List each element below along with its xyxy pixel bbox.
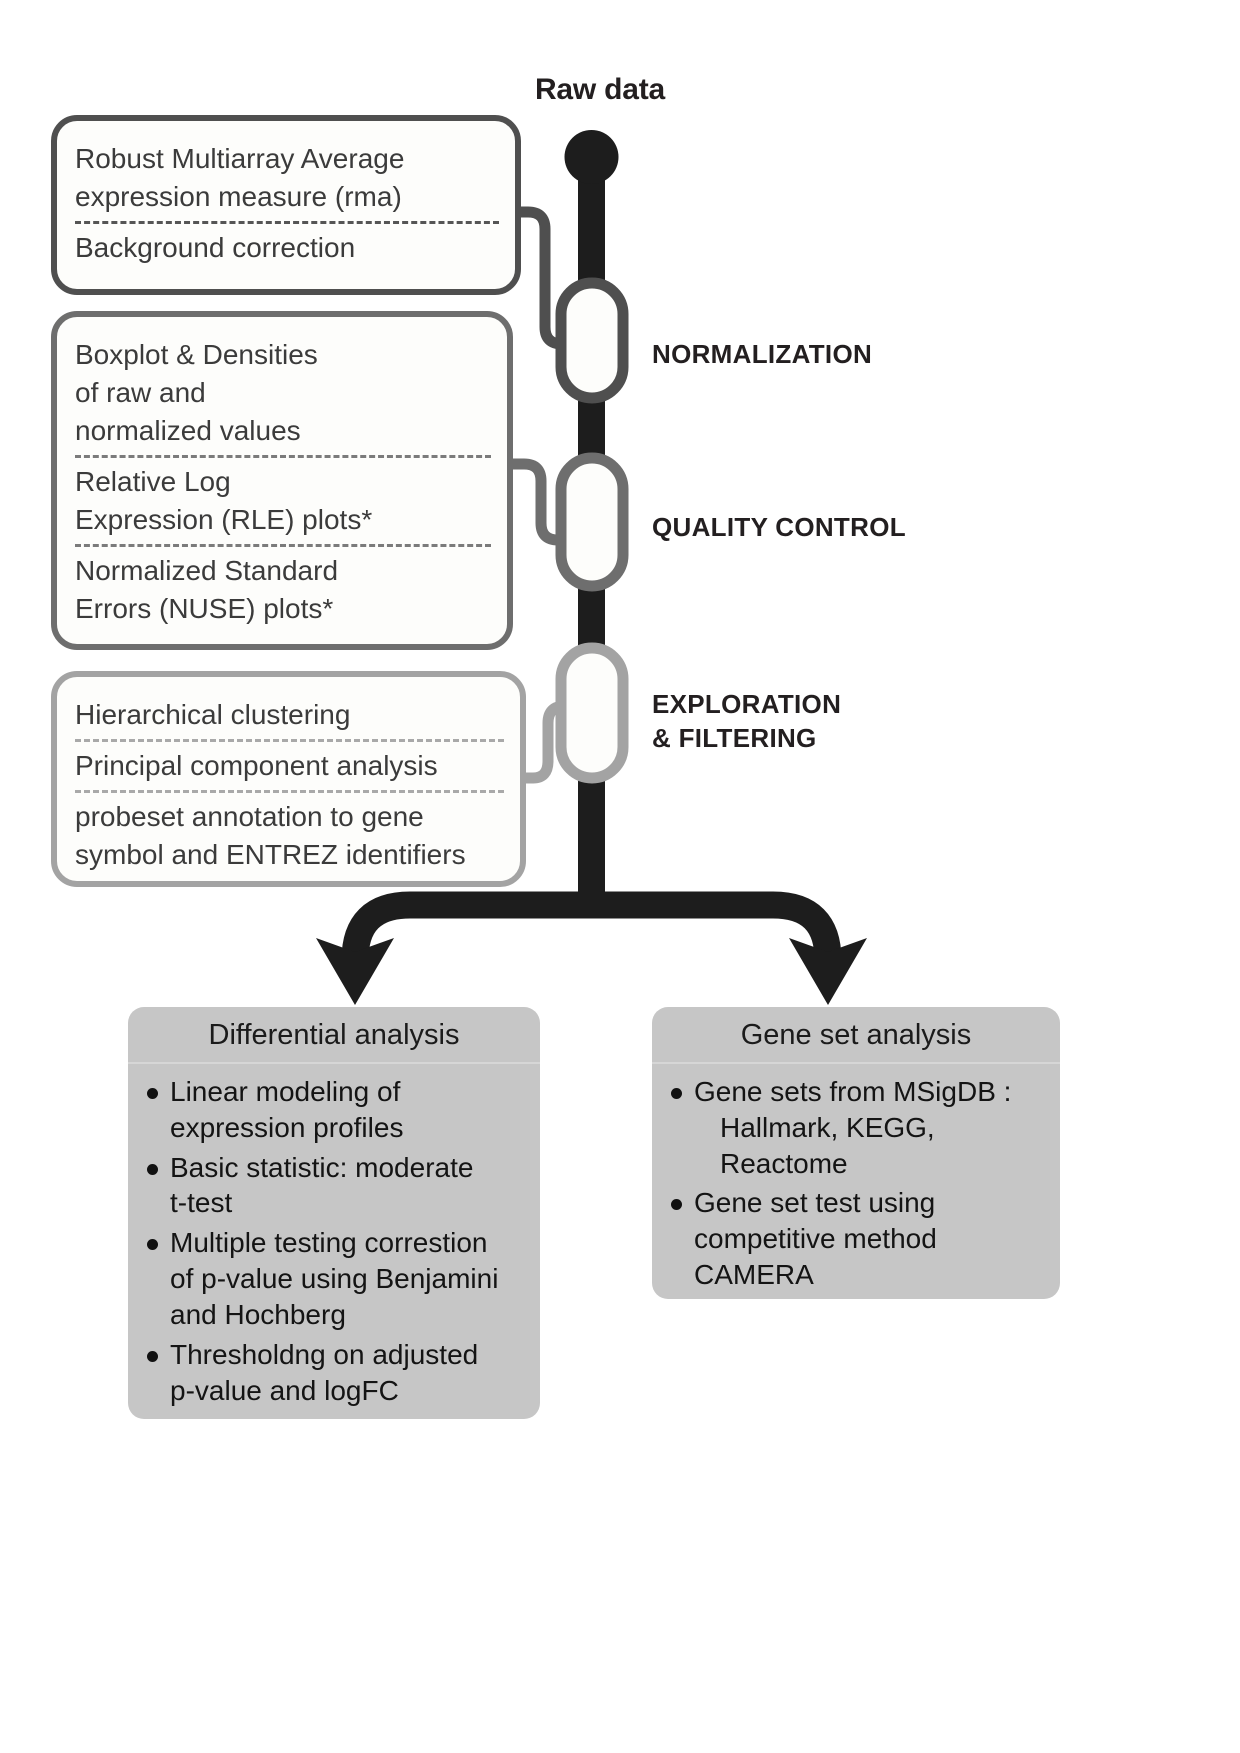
panel-title: Gene set analysis	[652, 1007, 1060, 1064]
stage-label-line: & FILTERING	[652, 722, 841, 756]
list-item-line: Gene sets from MSigDB :	[694, 1074, 1048, 1110]
stage-row-exploration-2: probeset annotation to gene symbol and E…	[75, 790, 504, 879]
stage-row-line: probeset annotation to gene	[75, 798, 504, 836]
spine-segment-exp-branch	[578, 775, 605, 905]
list-item-line: CAMERA	[694, 1257, 1048, 1293]
stage-row-line: Principal component analysis	[75, 747, 504, 785]
stage-row-line: Errors (NUSE) plots*	[75, 590, 491, 628]
bullet-icon	[147, 1239, 158, 1250]
node-normalization-group	[513, 212, 623, 398]
stage-row-exploration-0: Hierarchical clustering	[75, 691, 504, 739]
list-item-line: p-value and logFC	[170, 1373, 528, 1409]
list-item: Basic statistic: moderate t-test	[144, 1150, 528, 1222]
list-item: Thresholdng on adjusted p-value and logF…	[144, 1337, 528, 1409]
stage-row-line: Expression (RLE) plots*	[75, 501, 491, 539]
stage-card-exploration-filtering: Hierarchical clustering Principal compon…	[51, 671, 526, 887]
stage-label-exploration-filtering: EXPLORATION & FILTERING	[652, 688, 841, 756]
list-item-line: Gene set test using	[694, 1185, 1048, 1221]
branch-arrows-group	[316, 905, 867, 1005]
stage-row-exploration-1: Principal component analysis	[75, 739, 504, 790]
list-item-line: Hallmark, KEGG,	[694, 1110, 1048, 1146]
stage-card-normalization: Robust Multiarray Average expression mea…	[51, 115, 521, 295]
stage-row-line: Normalized Standard	[75, 552, 491, 590]
stage-row-line: symbol and ENTREZ identifiers	[75, 836, 504, 874]
stage-row-line: Hierarchical clustering	[75, 696, 504, 734]
list-item: Multiple testing correstion of p-value u…	[144, 1225, 528, 1332]
stage-row-line: Boxplot & Densities	[75, 336, 491, 374]
bullet-icon	[671, 1088, 682, 1099]
list-item: Linear modeling of expression profiles	[144, 1074, 528, 1146]
stage-row-line: Relative Log	[75, 463, 491, 501]
stage-row-quality-control-0: Boxplot & Densities of raw and normalize…	[75, 331, 491, 455]
node-exploration-group	[519, 648, 623, 778]
raw-data-dot	[565, 130, 619, 184]
stage-row-line: Background correction	[75, 229, 499, 267]
stage-card-quality-control: Boxplot & Densities of raw and normalize…	[51, 311, 513, 650]
node-quality-control-group	[507, 458, 623, 586]
list-item: Gene set test using competitive method C…	[668, 1185, 1048, 1292]
diagram-canvas: Raw data Robust Multiarray Average expre…	[0, 0, 1240, 1753]
list-item: Gene sets from MSigDB : Hallmark, KEGG, …	[668, 1074, 1048, 1181]
list-item-line: Basic statistic: moderate	[170, 1150, 528, 1186]
spine-segment-norm-qc	[578, 395, 605, 460]
list-item-line: and Hochberg	[170, 1297, 528, 1333]
list-item-line: competitive method	[694, 1221, 1048, 1257]
list-item-line: Reactome	[694, 1146, 1048, 1182]
stage-row-normalization-1: Background correction	[75, 221, 499, 272]
panel-list: Linear modeling of expression profiles B…	[128, 1064, 540, 1428]
panel-gene-set-analysis: Gene set analysis Gene sets from MSigDB …	[652, 1007, 1060, 1299]
panel-differential-analysis: Differential analysis Linear modeling of…	[128, 1007, 540, 1419]
panel-title: Differential analysis	[128, 1007, 540, 1064]
list-item-line: of p-value using Benjamini	[170, 1261, 528, 1297]
branch-connector	[355, 905, 828, 960]
bullet-icon	[147, 1088, 158, 1099]
list-item-line: t-test	[170, 1185, 528, 1221]
stage-label-normalization: NORMALIZATION	[652, 338, 872, 372]
node-normalization	[561, 283, 623, 398]
stage-label-quality-control: QUALITY CONTROL	[652, 511, 906, 545]
stage-row-quality-control-1: Relative Log Expression (RLE) plots*	[75, 455, 491, 544]
bullet-icon	[147, 1164, 158, 1175]
stage-row-line: normalized values	[75, 412, 491, 450]
bullet-icon	[671, 1199, 682, 1210]
spine-segment-qc-exp	[578, 585, 605, 650]
stage-label-line: EXPLORATION	[652, 688, 841, 722]
stage-row-normalization-0: Robust Multiarray Average expression mea…	[75, 135, 499, 221]
panel-list: Gene sets from MSigDB : Hallmark, KEGG, …	[652, 1064, 1060, 1313]
list-item-line: Linear modeling of	[170, 1074, 528, 1110]
node-exploration	[561, 648, 623, 778]
bullet-icon	[147, 1351, 158, 1362]
page-title: Raw data	[470, 73, 730, 107]
list-item-line: Thresholdng on adjusted	[170, 1337, 528, 1373]
stage-row-line: expression measure (rma)	[75, 178, 499, 216]
list-item-line: Multiple testing correstion	[170, 1225, 528, 1261]
list-item-line: expression profiles	[170, 1110, 528, 1146]
node-quality-control	[561, 458, 623, 586]
stage-row-line: of raw and	[75, 374, 491, 412]
stage-row-line: Robust Multiarray Average	[75, 140, 499, 178]
stage-row-quality-control-2: Normalized Standard Errors (NUSE) plots*	[75, 544, 491, 633]
